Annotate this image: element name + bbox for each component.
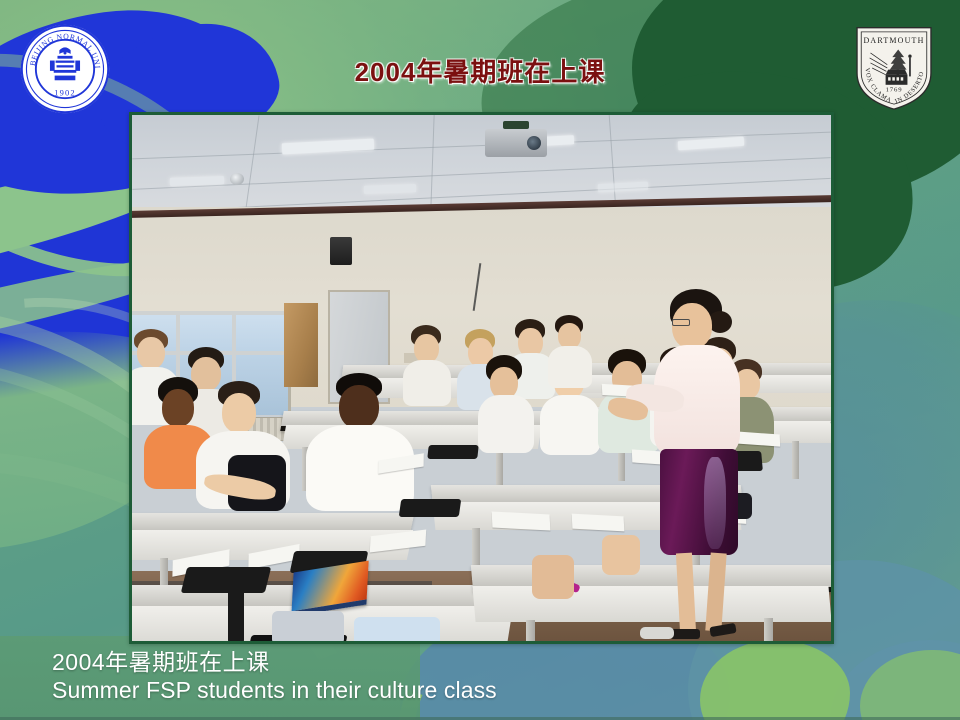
photo-ceiling-detector [230,173,244,185]
presentation-slide: BEIJING NORMAL UNIVERSITY 1902 DARTMOUTH [0,0,960,720]
classroom-photo [129,112,834,644]
photo-wall-speaker [330,237,352,265]
slide-title: 2004年暑期班在上课 [0,52,960,89]
photo-curtain [284,303,318,387]
slide-caption: 2004年暑期班在上课 Summer FSP students in their… [52,650,497,704]
photo-ceiling-projector [477,121,555,161]
caption-english: Summer FSP students in their culture cla… [52,678,497,704]
caption-chinese: 2004年暑期班在上课 [52,650,497,676]
svg-text:DARTMOUTH: DARTMOUTH [863,36,924,45]
